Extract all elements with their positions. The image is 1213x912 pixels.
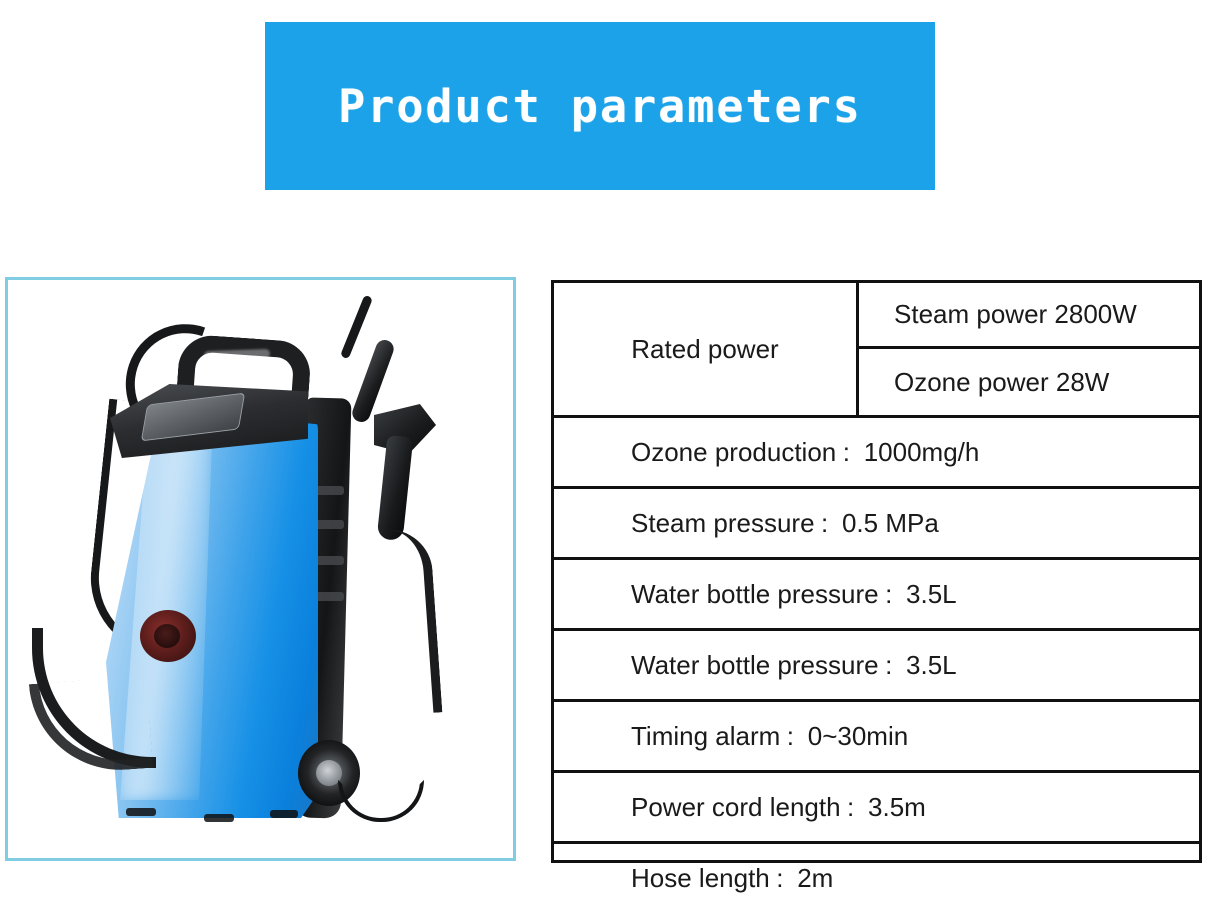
base-foot xyxy=(126,808,156,816)
spec-water-bottle-pressure-1: Water bottle pressure : 3.5L xyxy=(554,560,957,628)
spray-gun-hose xyxy=(386,527,443,716)
table-row: Water bottle pressure : 3.5L xyxy=(554,631,1199,702)
rated-power-values: Steam power 2800W Ozone power 28W xyxy=(859,283,1199,415)
table-row: Ozone production : 1000mg/h xyxy=(554,418,1199,489)
power-cord xyxy=(338,780,424,822)
product-image-frame xyxy=(5,277,516,861)
spec-ozone-production: Ozone production : 1000mg/h xyxy=(554,418,979,486)
table-row: Water bottle pressure : 3.5L xyxy=(554,560,1199,631)
table-row: Steam pressure : 0.5 MPa xyxy=(554,489,1199,560)
spec-timing-alarm: Timing alarm : 0~30min xyxy=(554,702,908,770)
table-row: Timing alarm : 0~30min xyxy=(554,702,1199,773)
table-row: Power cord length : 3.5m xyxy=(554,773,1199,844)
specifications-table: Rated power Steam power 2800W Ozone powe… xyxy=(551,280,1202,863)
spray-gun-grip xyxy=(377,435,414,541)
base-foot xyxy=(270,810,298,818)
product-photo xyxy=(8,280,513,858)
hose-connector-port-inner xyxy=(154,624,180,648)
table-row: Rated power Steam power 2800W Ozone powe… xyxy=(554,283,1199,418)
product-parameters-banner: Product parameters xyxy=(265,22,935,190)
table-row: Hose length : 2m xyxy=(554,844,1199,912)
steam-power-value: Steam power 2800W xyxy=(859,283,1199,349)
spec-hose-length: Hose length : 2m xyxy=(554,844,833,912)
ozone-power-value: Ozone power 28W xyxy=(859,349,1199,415)
page-title: Product parameters xyxy=(338,80,862,133)
spec-power-cord-length: Power cord length : 3.5m xyxy=(554,773,926,841)
spec-steam-pressure: Steam pressure : 0.5 MPa xyxy=(554,489,939,557)
spray-lance xyxy=(340,295,373,360)
base-foot xyxy=(204,814,234,822)
outlet-hose-shadow xyxy=(29,676,153,776)
spec-water-bottle-pressure-2: Water bottle pressure : 3.5L xyxy=(554,631,957,699)
rated-power-label: Rated power xyxy=(554,283,859,415)
